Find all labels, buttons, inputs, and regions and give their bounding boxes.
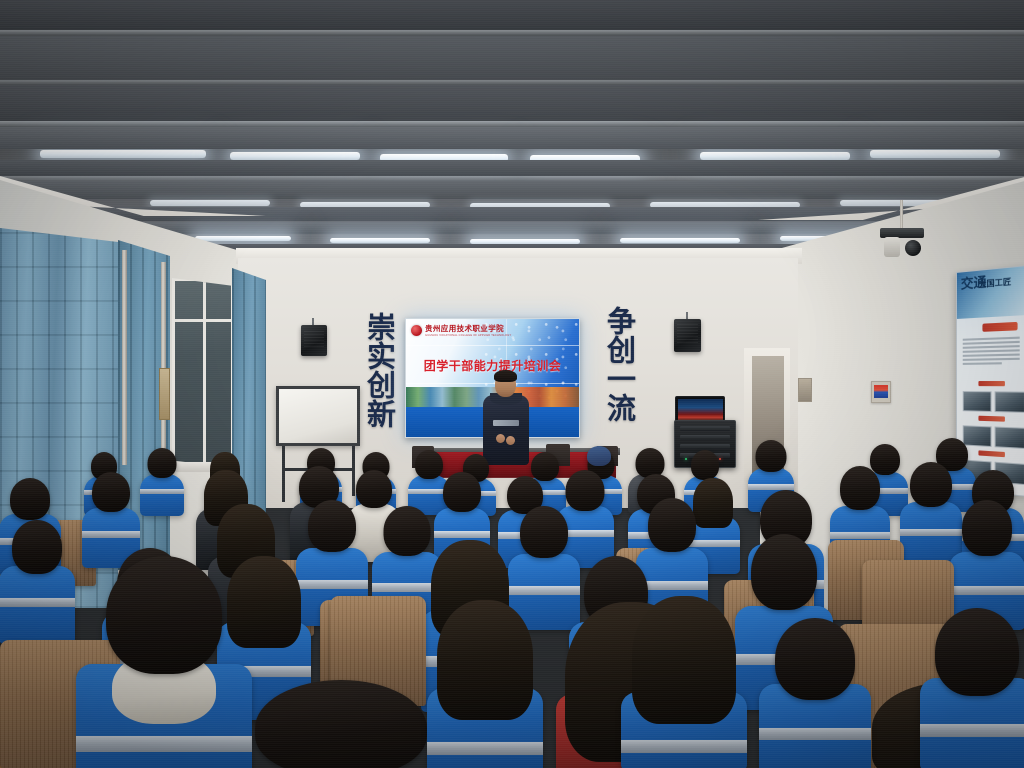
wall-pipe	[161, 262, 166, 462]
wall-slogan-right: 争创一流	[604, 306, 634, 422]
wall-control-panel[interactable]	[871, 381, 891, 403]
audience-person	[586, 446, 612, 468]
audience-person-foreground	[256, 680, 426, 768]
poster-thumb	[995, 391, 1024, 413]
uniform-jacket	[0, 566, 75, 644]
ceiling-light-tube	[870, 150, 1000, 158]
head	[308, 500, 356, 552]
head	[751, 534, 817, 610]
ceiling-light-tube	[620, 238, 740, 243]
head	[962, 500, 1012, 556]
cap-head	[587, 446, 611, 466]
camera-dome	[905, 240, 921, 256]
university-seal-icon	[411, 325, 422, 336]
wall-speaker-left	[301, 325, 327, 356]
head	[106, 556, 222, 674]
camera-mount-rod	[900, 200, 903, 230]
audience-person	[140, 448, 184, 516]
monitor-screen-content	[678, 399, 723, 422]
long-hair	[632, 596, 736, 724]
poster-thumb	[963, 391, 992, 412]
wall-mounted-box	[159, 368, 170, 420]
ceiling	[0, 0, 1024, 262]
poster-section-badge	[978, 450, 1004, 457]
head	[935, 608, 1019, 696]
panel-display	[874, 385, 888, 398]
whiteboard-stand-leg	[282, 446, 285, 502]
whiteboard[interactable]	[276, 386, 360, 446]
head	[520, 506, 568, 558]
poster-badge	[982, 322, 1017, 332]
head	[12, 520, 62, 574]
head	[910, 462, 952, 507]
head	[255, 680, 427, 768]
presenter-hoodie-logo	[493, 420, 519, 426]
wall-slogan-left: 崇实创新	[364, 312, 394, 428]
ceiling-light-tube	[150, 200, 270, 206]
head	[443, 472, 481, 512]
head	[10, 478, 50, 520]
window-left	[172, 278, 234, 468]
poster-section-badge	[978, 416, 1004, 422]
ceiling-light-tube	[700, 152, 850, 160]
uniform-jacket	[140, 474, 184, 516]
head	[648, 498, 696, 552]
ceiling-light-tube	[330, 238, 430, 243]
poster-header	[957, 266, 1024, 319]
presenter	[478, 372, 534, 464]
head	[840, 466, 880, 510]
head	[566, 470, 605, 511]
wall-pipe	[122, 250, 127, 465]
wall-switch-plate[interactable]	[798, 378, 812, 402]
photo-scene: 交通 大国工匠 崇实创新 争创一流 贵州应用技术职业学院 GUIZHOU VOC…	[0, 0, 1024, 768]
audience-person	[430, 600, 540, 768]
screen-institution-cn: 贵州应用技术职业学院	[425, 323, 511, 334]
poster-body-text	[963, 337, 1020, 367]
poster-thumb	[995, 427, 1024, 449]
security-camera-icon	[880, 228, 924, 254]
ceiling-light-tube	[40, 150, 206, 158]
head	[92, 472, 130, 512]
ceiling-light-tube	[230, 152, 360, 160]
head	[756, 440, 787, 472]
audience-person-foreground	[624, 596, 744, 768]
poster-section-badge	[978, 381, 1004, 386]
audience-person	[760, 618, 870, 768]
wall-speaker-right	[674, 319, 701, 352]
screen-institution-en: GUIZHOU VOCATIONAL COLLEGE OF APPLIED TE…	[425, 334, 511, 337]
presenter-hand	[496, 434, 505, 443]
screen-institution-logo: 贵州应用技术职业学院 GUIZHOU VOCATIONAL COLLEGE OF…	[411, 323, 511, 337]
camera-lens	[884, 237, 900, 257]
presenter-hair	[494, 370, 517, 382]
head	[148, 448, 177, 478]
long-hair	[437, 600, 533, 720]
head	[691, 450, 719, 480]
audience-person-foreground	[84, 556, 244, 768]
ceiling-light-tube	[195, 236, 291, 241]
audience-person	[0, 520, 74, 640]
audience-person-foreground	[922, 608, 1024, 768]
head	[775, 618, 855, 700]
presenter-hand	[506, 436, 515, 445]
